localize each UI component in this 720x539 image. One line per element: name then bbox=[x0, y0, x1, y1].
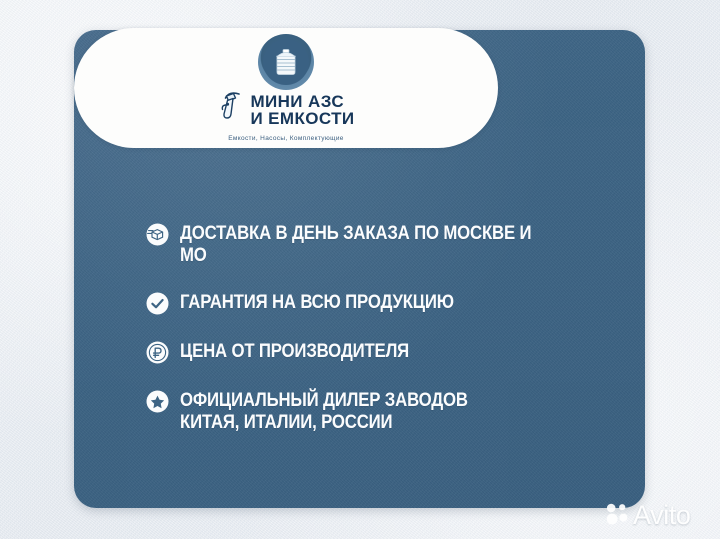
logo-lockup: МИНИ АЗС И ЕМКОСТИ Емкости, Насосы, Комп… bbox=[74, 28, 498, 148]
feature-label: ЦЕНА ОТ ПРОИЗВОДИТЕЛЯ bbox=[180, 340, 409, 362]
logo-words: МИНИ АЗС И ЕМКОСТИ bbox=[250, 93, 354, 127]
logo-line-1: МИНИ АЗС bbox=[250, 93, 354, 110]
ruble-coin-icon bbox=[146, 341, 169, 364]
logo-tagline: Емкости, Насосы, Комплектующие bbox=[228, 135, 344, 142]
feature-label: ОФИЦИАЛЬНЫЙ ДИЛЕР ЗАВОДОВ КИТАЯ, ИТАЛИИ,… bbox=[180, 389, 468, 433]
logo-panel: МИНИ АЗС И ЕМКОСТИ Емкости, Насосы, Комп… bbox=[74, 28, 498, 148]
package-delivery-icon bbox=[146, 223, 169, 246]
advert-image: МИНИ АЗС И ЕМКОСТИ Емкости, Насосы, Комп… bbox=[0, 0, 720, 539]
feature-list: ДОСТАВКА В ДЕНЬ ЗАКАЗА ПО МОСКВЕ И МО ГА… bbox=[146, 222, 616, 433]
logo-wordmark-row: МИНИ АЗС И ЕМКОСТИ bbox=[217, 88, 354, 131]
feature-item-price: ЦЕНА ОТ ПРОИЗВОДИТЕЛЯ bbox=[146, 340, 616, 364]
feature-label: ГАРАНТИЯ НА ВСЮ ПРОДУКЦИЮ bbox=[180, 291, 454, 313]
star-circle-icon bbox=[146, 390, 169, 413]
fuel-tank-icon bbox=[258, 34, 314, 90]
avito-watermark: Avito bbox=[604, 500, 691, 531]
avito-dots-icon bbox=[604, 500, 630, 531]
fuel-nozzle-icon bbox=[217, 88, 247, 131]
feature-item-dealer: ОФИЦИАЛЬНЫЙ ДИЛЕР ЗАВОДОВ КИТАЯ, ИТАЛИИ,… bbox=[146, 389, 616, 433]
feature-item-delivery: ДОСТАВКА В ДЕНЬ ЗАКАЗА ПО МОСКВЕ И МО bbox=[146, 222, 616, 266]
feature-item-warranty: ГАРАНТИЯ НА ВСЮ ПРОДУКЦИЮ bbox=[146, 291, 616, 315]
logo-line-2: И ЕМКОСТИ bbox=[250, 110, 354, 127]
avito-label: Avito bbox=[633, 502, 691, 529]
check-circle-icon bbox=[146, 292, 169, 315]
feature-label: ДОСТАВКА В ДЕНЬ ЗАКАЗА ПО МОСКВЕ И МО bbox=[180, 222, 555, 266]
